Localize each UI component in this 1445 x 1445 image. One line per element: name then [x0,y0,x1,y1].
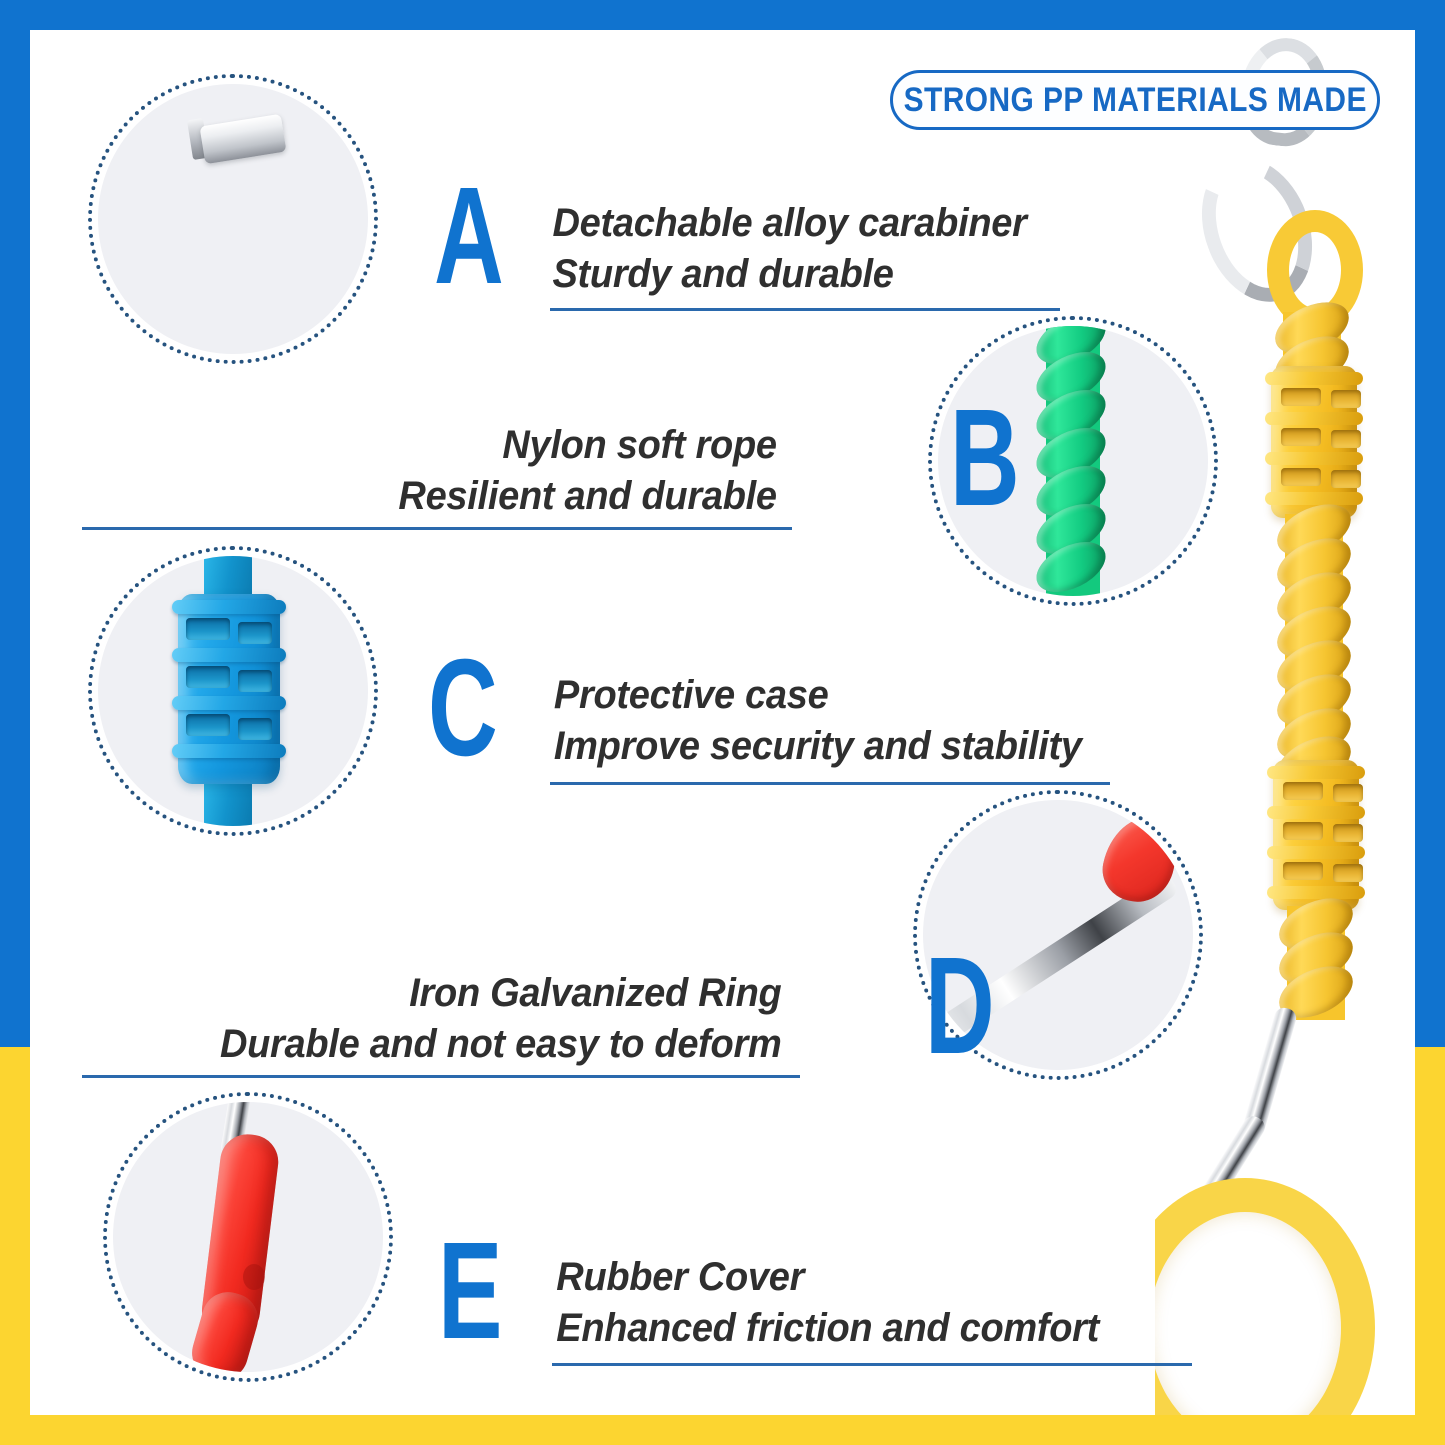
feature-underline-a [550,308,1060,311]
sleeve-slot [1331,390,1361,408]
case-rib [172,600,286,614]
sleeve-rib [1267,886,1365,899]
frame-border-right-blue [1415,30,1445,1047]
sleeve-slot [1283,862,1323,880]
frame-border-bottom [0,1415,1445,1445]
sleeve-rib [1267,846,1365,859]
feature-underline-e [552,1363,1192,1366]
carabiner-photo [98,84,368,354]
feature-line-1: Nylon soft rope [273,420,777,471]
sleeve-slot [1331,470,1361,488]
sleeve-slot [1331,430,1361,448]
case-slot [186,618,230,640]
frame-border-left-blue [0,30,30,1047]
rubber-cover-photo [113,1102,383,1372]
sleeve-rib [1265,412,1363,425]
feature-letter-c: C [428,652,498,765]
feature-letter-e: E [438,1235,502,1348]
frame-border-top [0,0,1445,30]
infographic-canvas: STRONG PP MATERIALS MADE [30,30,1415,1415]
case-rib [172,744,286,758]
sleeve-slot [1283,782,1323,800]
feature-line-1: Iron Galvanized Ring [79,968,782,1019]
feature-letter-d: D [925,950,995,1063]
feature-line-2: Resilient and durable [273,471,777,522]
feature-text-d: Iron Galvanized Ring Durable and not eas… [60,968,800,1070]
sleeve-rib [1265,372,1363,385]
infographic-frame: STRONG PP MATERIALS MADE [0,0,1445,1445]
product-photo [1155,30,1415,1415]
case-rib [172,648,286,662]
sleeve-rib [1265,452,1363,465]
feature-text-c: Protective case Improve security and sta… [540,670,1096,772]
feature-line-1: Detachable alloy carabiner [552,198,1026,249]
frame-border-left-yellow [0,1047,30,1445]
feature-letter-b: B [950,402,1020,515]
badge-label: STRONG PP MATERIALS MADE [903,81,1366,120]
feature-line-2: Improve security and stability [554,721,1082,772]
sleeve-rib [1267,806,1365,819]
case-slot [238,718,272,740]
feature-line-2: Enhanced friction and comfort [556,1303,1099,1354]
case-slot [186,714,230,736]
feature-underline-b [82,527,792,530]
frame-border-right-yellow [1415,1047,1445,1445]
sleeve-slot [1333,824,1363,842]
protective-case-photo [98,556,368,826]
case-slot [238,622,272,644]
rubber-grip-dimple [243,1264,265,1290]
yellow-rubber-handle-icon [1155,1178,1375,1415]
sleeve-slot [1283,822,1323,840]
feature-text-b: Nylon soft rope Resilient and durable [260,420,790,522]
feature-line-2: Durable and not easy to deform [79,1019,782,1070]
feature-letter-a: A [434,180,504,293]
feature-line-2: Sturdy and durable [552,249,1026,300]
feature-text-e: Rubber Cover Enhanced friction and comfo… [542,1252,1113,1354]
sleeve-rib [1265,492,1363,505]
case-slot [238,670,272,692]
case-slot [186,666,230,688]
sleeve-slot [1281,468,1321,486]
feature-line-1: Protective case [554,670,1082,721]
sleeve-slot [1281,428,1321,446]
sleeve-slot [1333,784,1363,802]
sleeve-slot [1333,864,1363,882]
feature-underline-c [550,782,1110,785]
case-rib [172,696,286,710]
feature-line-1: Rubber Cover [556,1252,1099,1303]
sleeve-rib [1267,766,1365,779]
feature-text-a: Detachable alloy carabiner Sturdy and du… [540,198,1039,300]
strong-materials-badge: STRONG PP MATERIALS MADE [890,70,1380,130]
sleeve-slot [1281,388,1321,406]
feature-underline-d [82,1075,800,1078]
